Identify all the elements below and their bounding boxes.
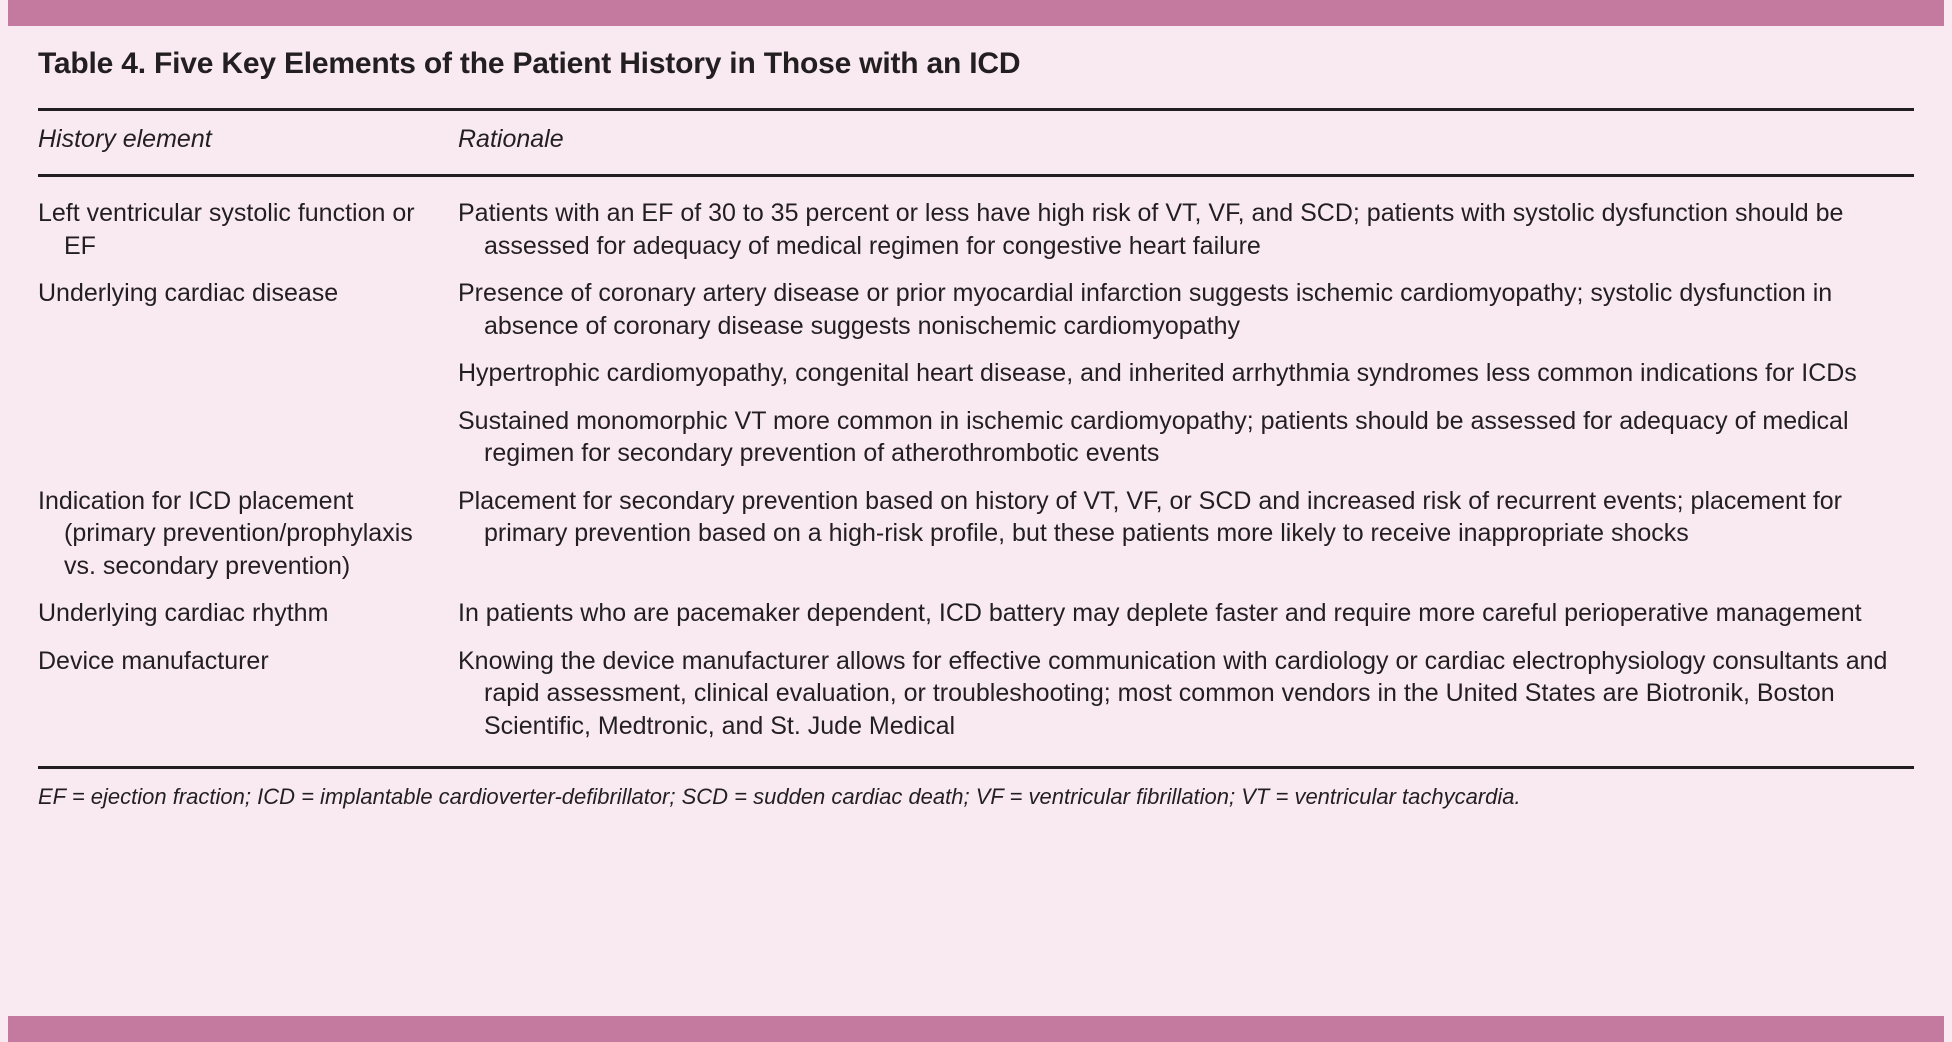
header-row: History element Rationale — [38, 111, 1914, 166]
rationale-paragraph: Knowing the device manufacturer allows f… — [458, 645, 1914, 743]
history-elements-body: Left ventricular systolic function or EF… — [38, 177, 1914, 760]
left-margin-rail — [0, 0, 8, 1042]
rationale-paragraph: In patients who are pacemaker dependent,… — [458, 597, 1914, 630]
cell-history-element: Indication for ICD placement (primary pr… — [38, 470, 458, 583]
table-row: Underlying cardiac diseasePresence of co… — [38, 262, 1914, 470]
table-footnote: EF = ejection fraction; ICD = implantabl… — [38, 783, 1914, 811]
top-color-band — [0, 0, 1952, 26]
bottom-color-band — [0, 1016, 1952, 1042]
column-header-rationale: Rationale — [458, 111, 1914, 166]
history-element-text: Indication for ICD placement (primary pr… — [38, 485, 458, 583]
history-elements-table: History element Rationale — [38, 111, 1914, 166]
rule-above-footnote — [38, 766, 1914, 769]
rationale-paragraph: Placement for secondary prevention based… — [458, 485, 1914, 550]
rationale-paragraph: Presence of coronary artery disease or p… — [458, 277, 1914, 342]
table-row: Left ventricular systolic function or EF… — [38, 177, 1914, 262]
cell-rationale: Knowing the device manufacturer allows f… — [458, 630, 1914, 761]
table-body: Left ventricular systolic function or EF… — [38, 177, 1914, 760]
cell-rationale: In patients who are pacemaker dependent,… — [458, 582, 1914, 630]
rationale-paragraph: Sustained monomorphic VT more common in … — [458, 405, 1914, 470]
right-margin-rail — [1944, 0, 1952, 1042]
rationale-paragraph: Hypertrophic cardiomyopathy, congenital … — [458, 357, 1914, 390]
table-card: Table 4. Five Key Elements of the Patien… — [0, 0, 1952, 1042]
history-element-text: Underlying cardiac rhythm — [38, 597, 458, 630]
cell-history-element: Underlying cardiac rhythm — [38, 582, 458, 630]
cell-rationale: Presence of coronary artery disease or p… — [458, 262, 1914, 470]
page-title: Table 4. Five Key Elements of the Patien… — [38, 46, 1914, 82]
history-element-text: Left ventricular systolic function or EF — [38, 197, 458, 262]
table-row: Underlying cardiac rhythmIn patients who… — [38, 582, 1914, 630]
history-element-text: Underlying cardiac disease — [38, 277, 458, 310]
history-element-text: Device manufacturer — [38, 645, 458, 678]
cell-history-element: Device manufacturer — [38, 630, 458, 761]
cell-history-element: Underlying cardiac disease — [38, 262, 458, 470]
table-row: Device manufacturerKnowing the device ma… — [38, 630, 1914, 761]
table-inner: Table 4. Five Key Elements of the Patien… — [0, 26, 1952, 1016]
cell-rationale: Patients with an EF of 30 to 35 percent … — [458, 177, 1914, 262]
cell-history-element: Left ventricular systolic function or EF — [38, 177, 458, 262]
table-row: Indication for ICD placement (primary pr… — [38, 470, 1914, 583]
column-header-history-element: History element — [38, 111, 458, 166]
table-head: History element Rationale — [38, 111, 1914, 166]
cell-rationale: Placement for secondary prevention based… — [458, 470, 1914, 583]
rationale-paragraph: Patients with an EF of 30 to 35 percent … — [458, 197, 1914, 262]
